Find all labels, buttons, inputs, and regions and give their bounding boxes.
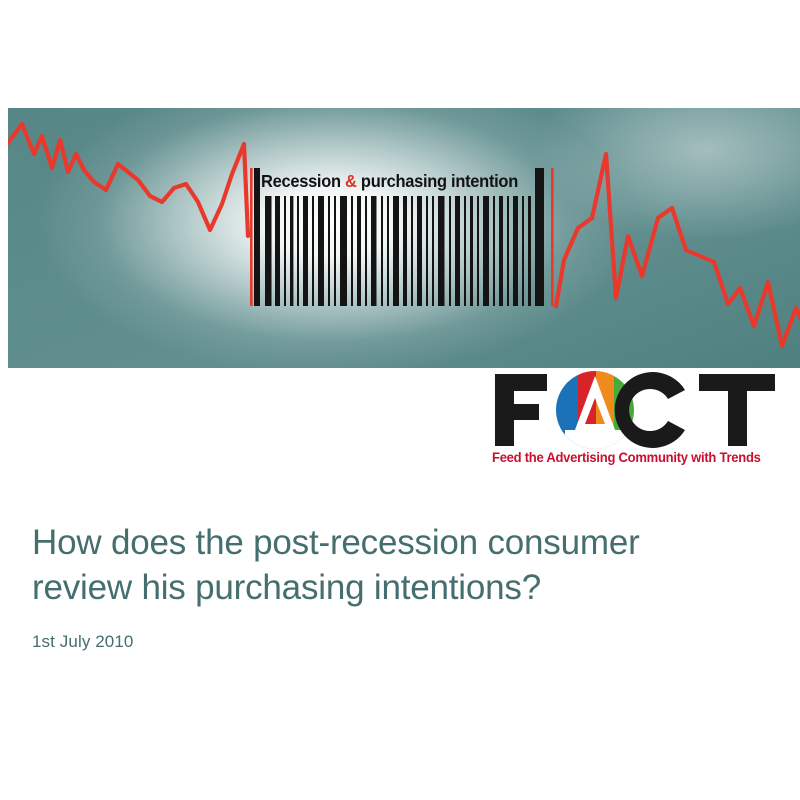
logo-letter-c — [615, 372, 685, 448]
logo-letter-t — [699, 374, 775, 446]
page-title-line-1: How does the post-recession consumer — [32, 523, 640, 562]
barcode-guide-right — [551, 168, 554, 306]
barcode-label-ampersand: & — [345, 171, 357, 191]
hero-banner: Recession & purchasing intention — [8, 108, 800, 368]
trend-line-left — [8, 124, 248, 236]
trend-line-right — [556, 154, 800, 346]
slide-canvas: Recession & purchasing intention — [0, 0, 800, 800]
logo-letter-f — [495, 374, 547, 446]
logo-letter-a-inner-gap — [565, 430, 625, 438]
fact-logo-mark — [489, 368, 794, 450]
presentation-date: 1st July 2010 — [32, 610, 762, 652]
fact-logo: Feed the Advertising Community with Tren… — [489, 368, 794, 476]
barcode-graphic: Recession & purchasing intention — [245, 168, 560, 306]
barcode-label: Recession & purchasing intention — [261, 168, 529, 194]
page-title-line-2: review his purchasing intentions? — [32, 568, 541, 607]
barcode-guide-left — [250, 168, 253, 306]
title-block: How does the post-recession consumerrevi… — [32, 520, 762, 652]
barcode-label-prefix: Recession — [261, 171, 345, 191]
fact-logo-tagline: Feed the Advertising Community with Tren… — [492, 450, 783, 465]
page-title: How does the post-recession consumerrevi… — [32, 520, 762, 610]
barcode-label-suffix: purchasing intention — [357, 171, 518, 191]
